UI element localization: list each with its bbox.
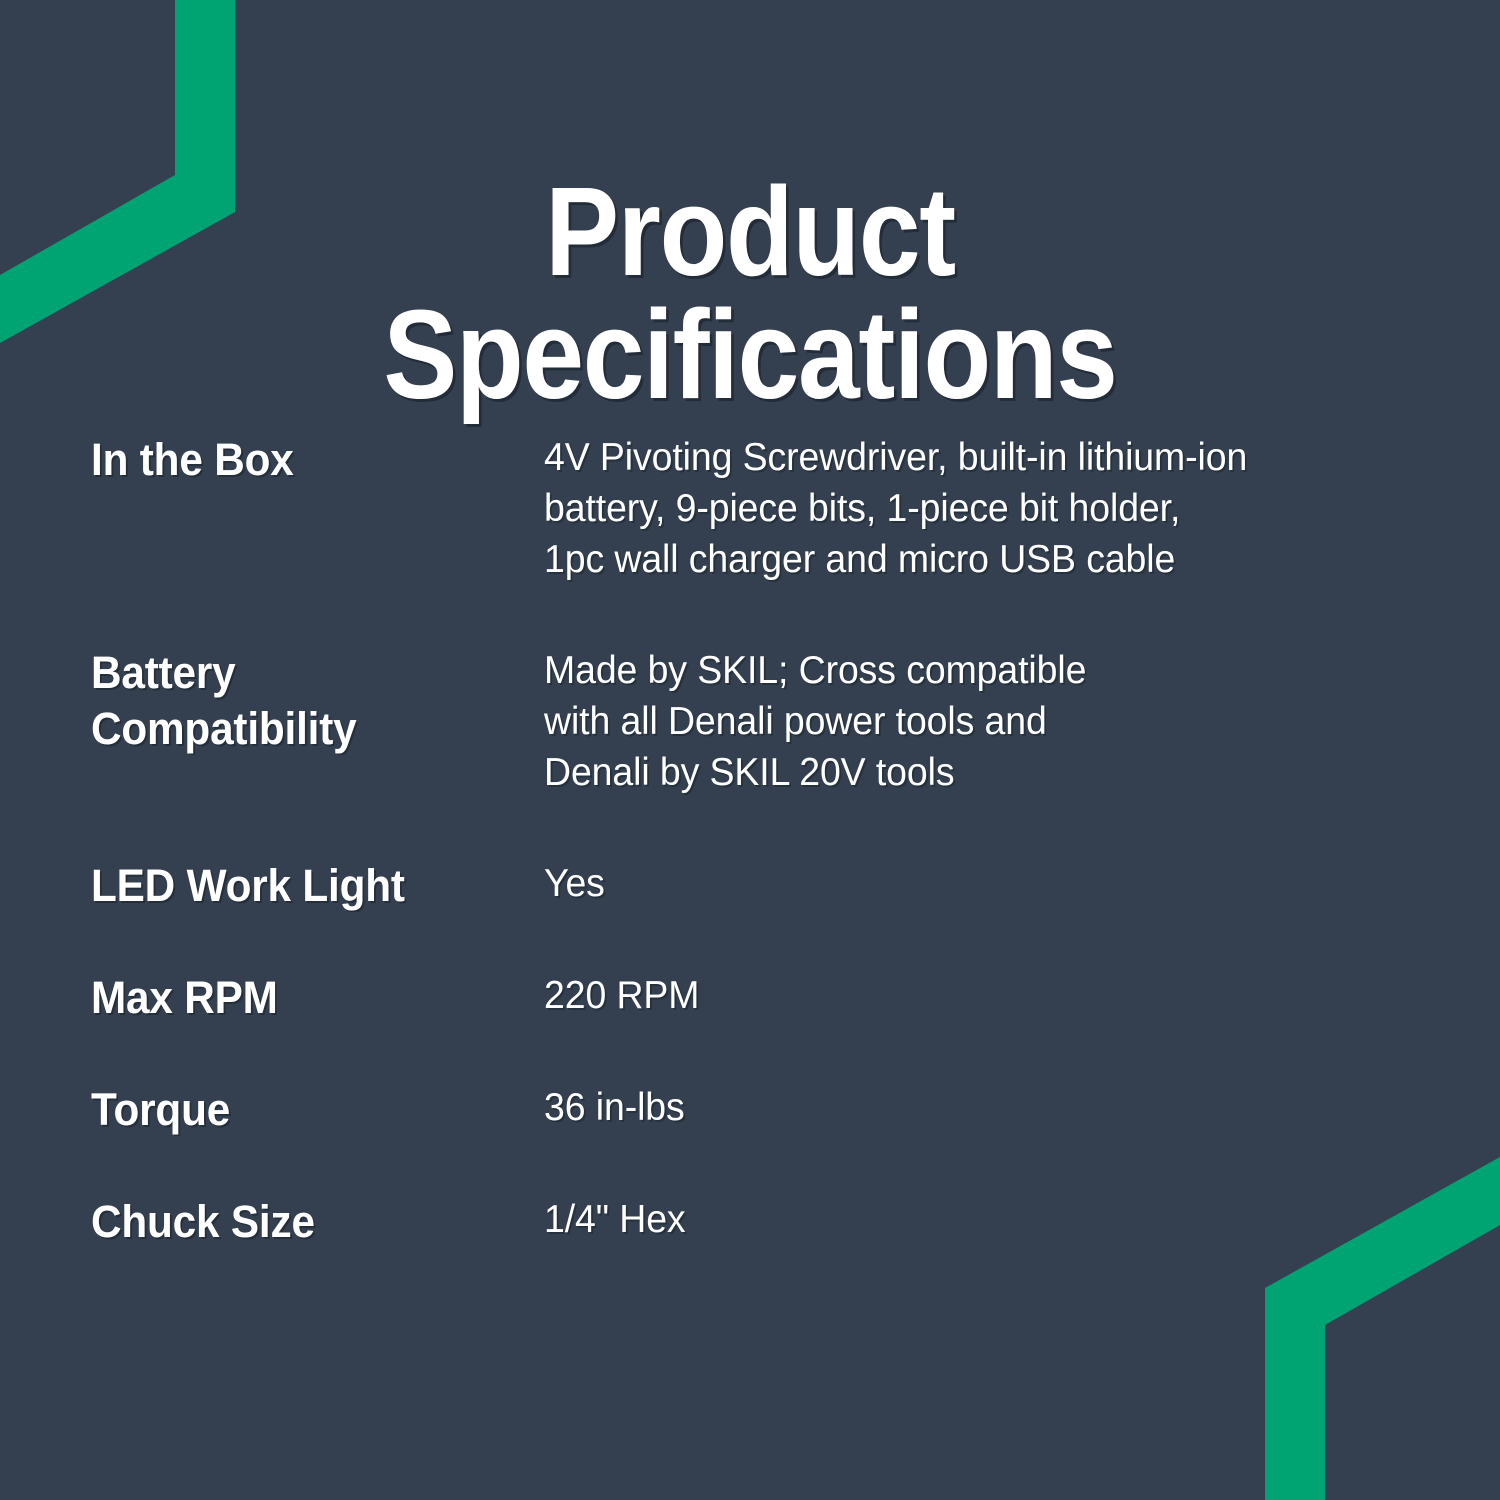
table-row: Battery Compatibility Made by SKIL; Cros… — [91, 645, 1431, 798]
spec-label-in-the-box: In the Box — [91, 432, 517, 488]
product-specifications-page: Product Specifications In the Box 4V Piv… — [0, 0, 1500, 1500]
table-row: Max RPM 220 RPM — [91, 970, 1431, 1026]
table-row: Chuck Size 1/4" Hex — [91, 1194, 1431, 1250]
spec-value-led-work-light: Yes — [544, 858, 1396, 909]
spec-value-torque: 36 in-lbs — [544, 1082, 1396, 1133]
spec-label-max-rpm: Max RPM — [91, 970, 517, 1026]
specifications-table: In the Box 4V Pivoting Screwdriver, buil… — [91, 432, 1431, 1250]
spec-value-in-the-box: 4V Pivoting Screwdriver, built-in lithiu… — [544, 432, 1396, 585]
spec-value-max-rpm: 220 RPM — [544, 970, 1396, 1021]
spec-label-torque: Torque — [91, 1082, 517, 1138]
page-title: Product Specifications — [90, 170, 1410, 416]
spec-value-battery-compatibility: Made by SKIL; Cross compatible with all … — [544, 645, 1396, 798]
spec-label-battery-compatibility: Battery Compatibility — [91, 645, 517, 757]
spec-label-chuck-size: Chuck Size — [91, 1194, 517, 1250]
spec-label-led-work-light: LED Work Light — [91, 858, 517, 914]
table-row: Torque 36 in-lbs — [91, 1082, 1431, 1138]
spec-value-chuck-size: 1/4" Hex — [544, 1194, 1396, 1245]
table-row: LED Work Light Yes — [91, 858, 1431, 914]
table-row: In the Box 4V Pivoting Screwdriver, buil… — [91, 432, 1431, 585]
